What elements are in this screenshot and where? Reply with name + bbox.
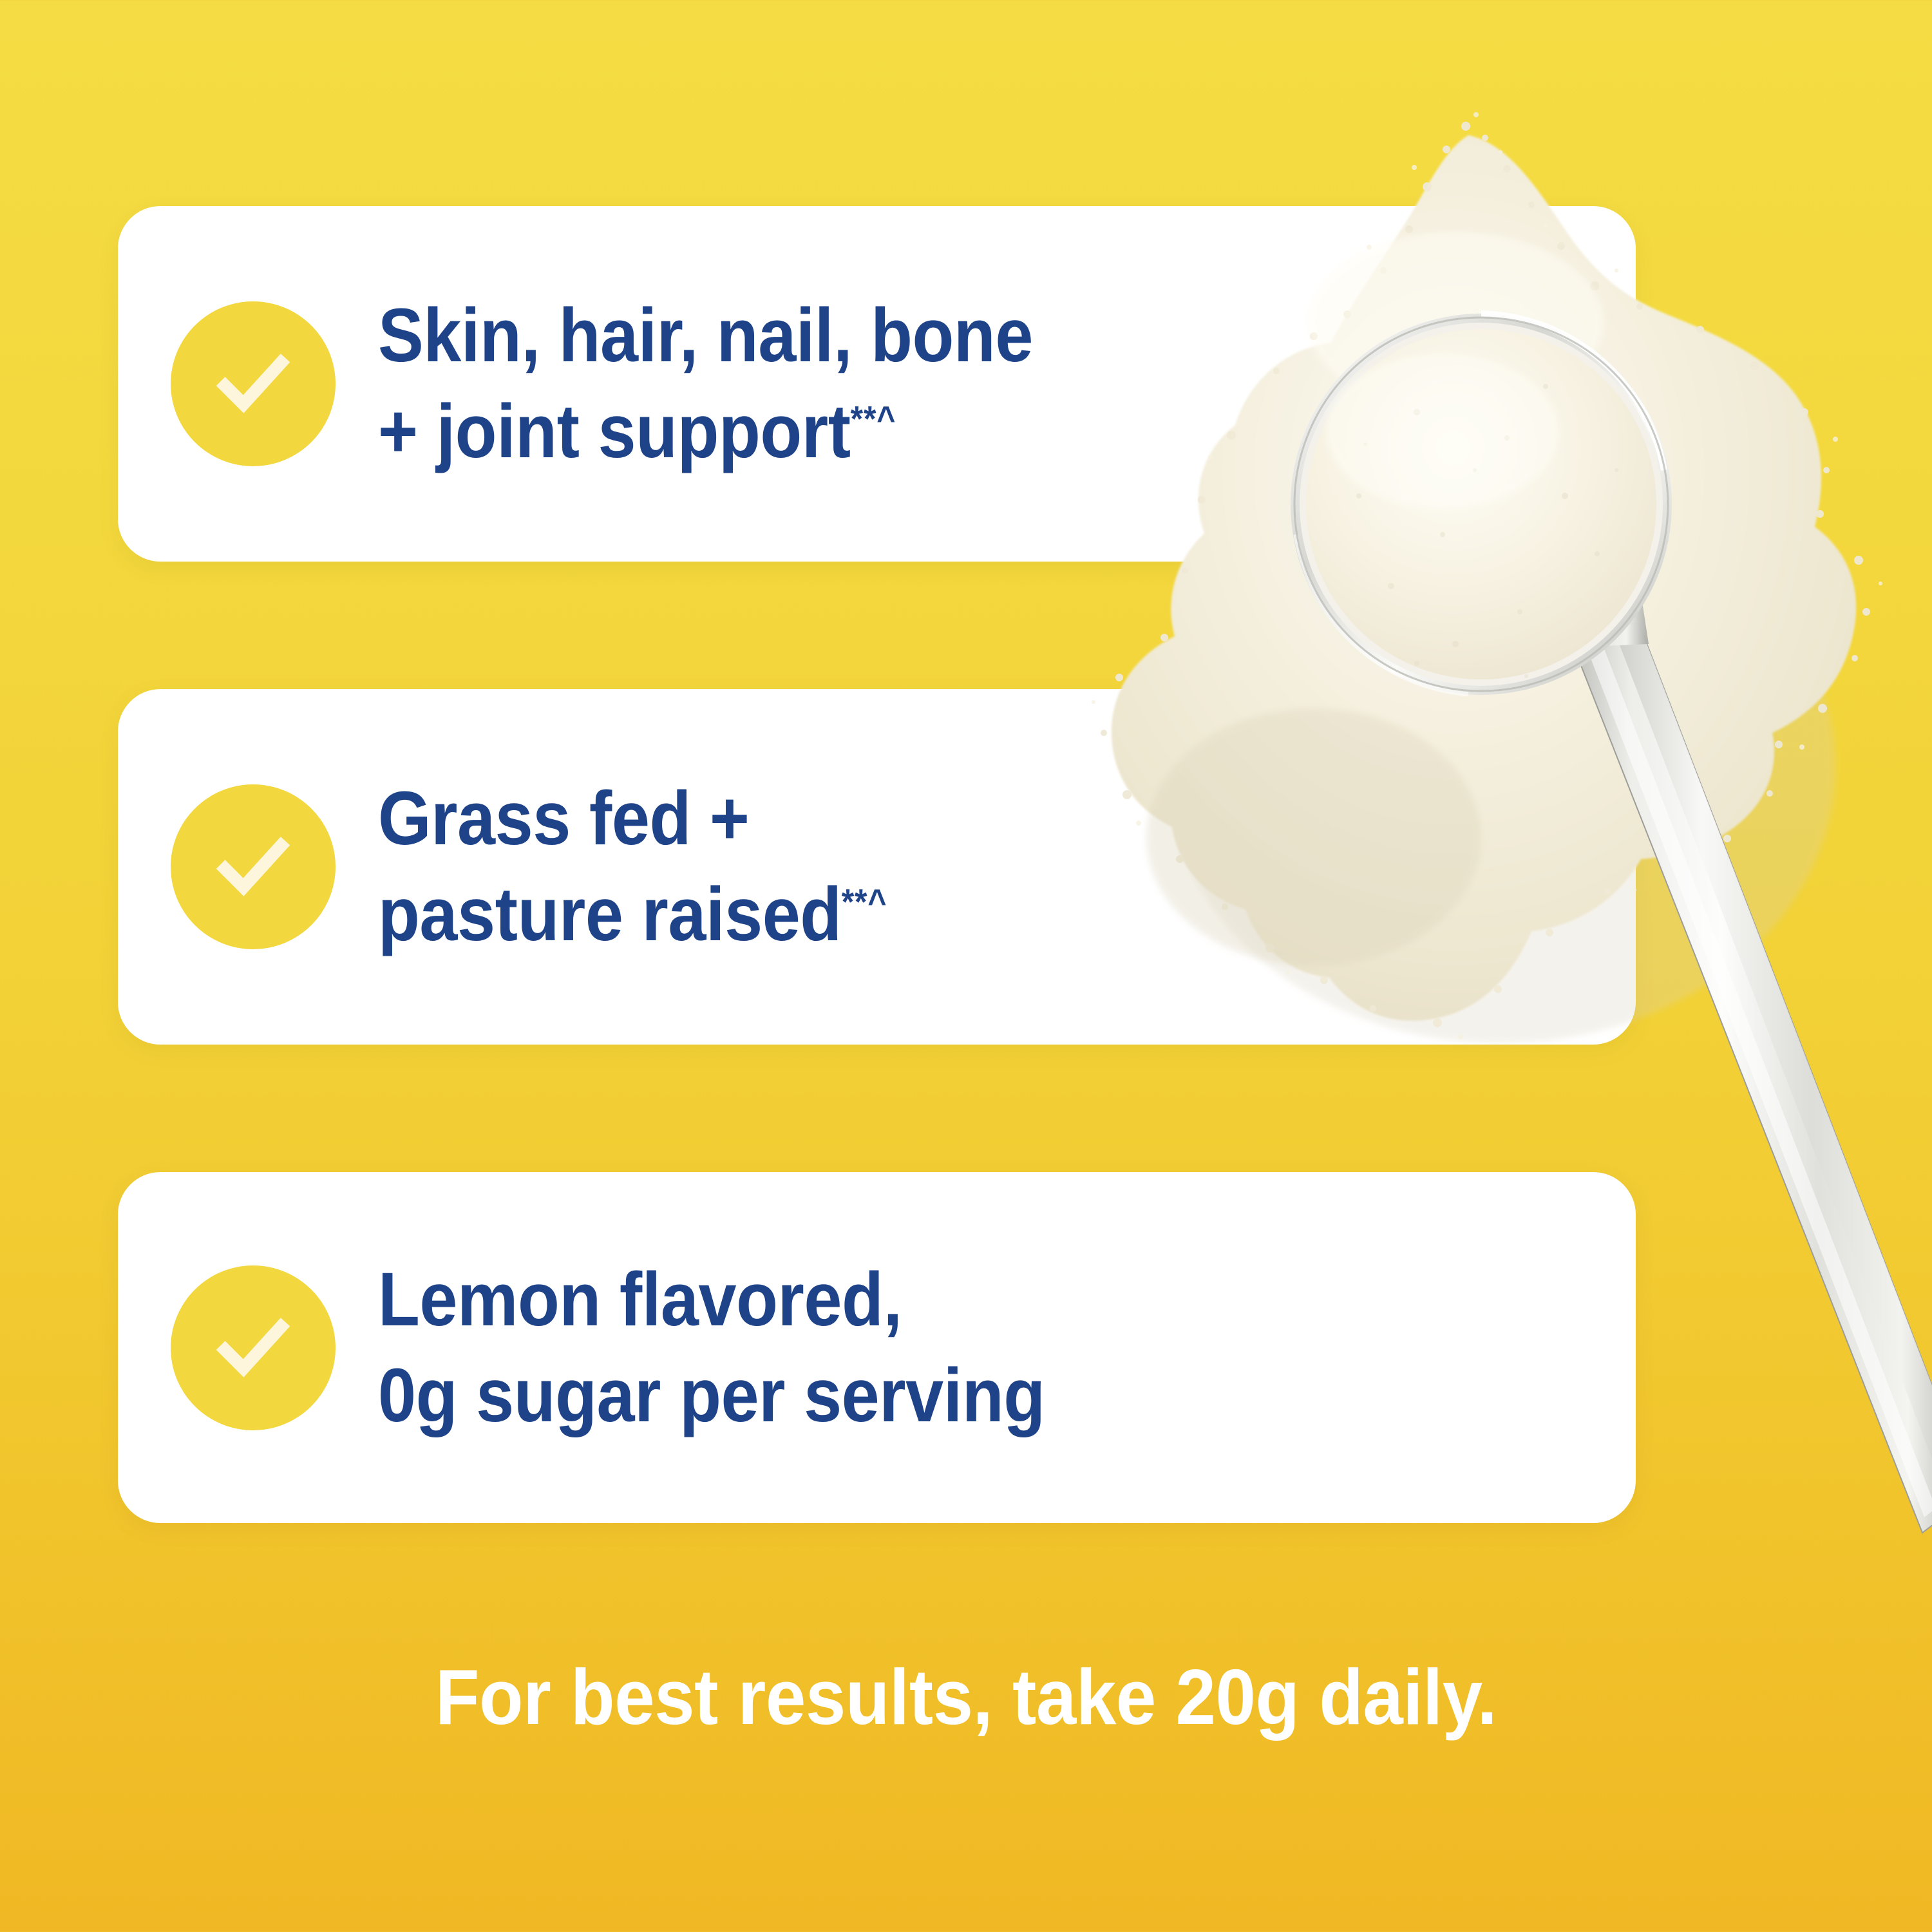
check-badge-1 <box>118 301 388 466</box>
check-icon <box>205 1300 301 1396</box>
benefit-line-2b-text: pasture raised <box>378 872 842 957</box>
benefit-card-3: Lemon flavored, 0g sugar per serving <box>118 1172 1636 1523</box>
benefit-card-2: Grass fed + pasture raised**^ <box>118 689 1636 1045</box>
benefit-text-1: Skin, hair, nail, bone + joint support**… <box>378 288 1033 479</box>
benefit-line-1b: + joint support**^ <box>378 384 1033 480</box>
check-icon <box>205 819 301 915</box>
check-circle-2 <box>171 784 336 949</box>
benefit-line-3b-text: 0g sugar per serving <box>378 1353 1045 1438</box>
benefit-card-1: Skin, hair, nail, bone + joint support**… <box>118 206 1636 562</box>
check-badge-3 <box>118 1265 388 1430</box>
check-circle-3 <box>171 1265 336 1430</box>
check-icon <box>205 336 301 432</box>
benefit-line-1a: Skin, hair, nail, bone <box>378 288 1033 384</box>
benefit-text-2: Grass fed + pasture raised**^ <box>378 771 887 962</box>
benefit-footnote-1: **^ <box>851 399 896 439</box>
check-badge-2 <box>118 784 388 949</box>
benefit-line-2b: pasture raised**^ <box>378 867 887 963</box>
benefit-line-3b: 0g sugar per serving <box>378 1348 1045 1444</box>
footer-instruction: For best results, take 20g daily. <box>77 1652 1855 1742</box>
benefit-line-1b-text: + joint support <box>378 389 851 474</box>
benefit-text-3: Lemon flavored, 0g sugar per serving <box>378 1252 1045 1443</box>
benefit-line-3a: Lemon flavored, <box>378 1252 1045 1348</box>
benefit-line-2a: Grass fed + <box>378 771 887 867</box>
benefit-footnote-2: **^ <box>842 882 887 922</box>
check-circle-1 <box>171 301 336 466</box>
benefits-list: Skin, hair, nail, bone + joint support**… <box>0 0 1932 1932</box>
